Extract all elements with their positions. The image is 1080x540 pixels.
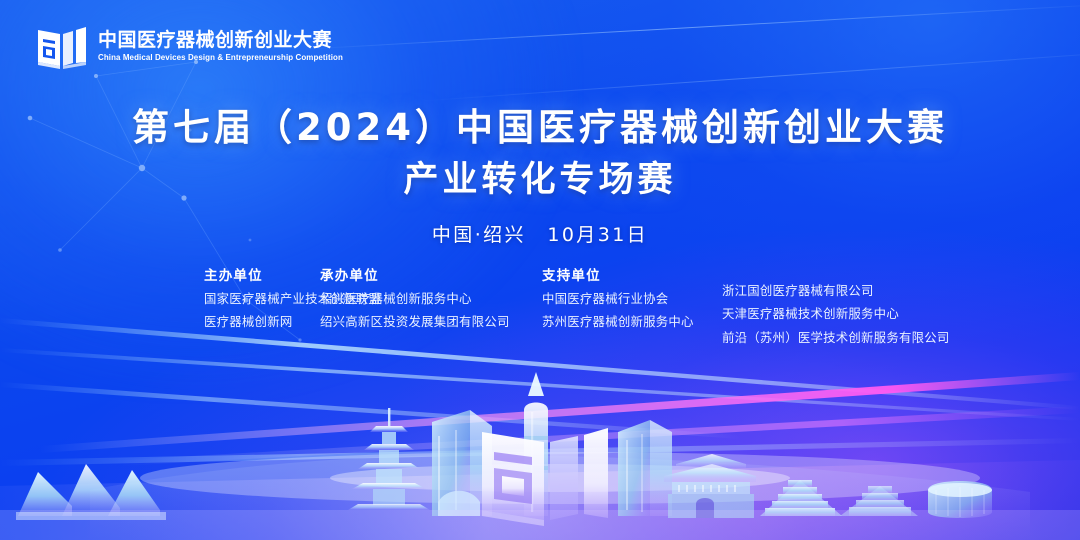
organizer-heading: 主办单位 bbox=[204, 264, 320, 284]
organizer-column-support: 支持单位 中国医疗器械行业协会 苏州医疗器械创新服务中心 bbox=[542, 264, 722, 340]
organizer-heading: 承办单位 bbox=[320, 264, 542, 284]
organizer-item: 绍兴医疗器械创新服务中心 bbox=[320, 293, 542, 305]
page-title: 第七届（2024）中国医疗器械创新创业大赛 bbox=[0, 104, 1080, 153]
organizer-item: 国家医疗器械产业技术创新联盟 bbox=[204, 293, 320, 305]
organizer-column-support-extra: 浙江国创医疗器械有限公司 天津医疗器械技术创新服务中心 前沿（苏州）医学技术创新… bbox=[722, 264, 992, 355]
organizer-item: 苏州医疗器械创新服务中心 bbox=[542, 316, 722, 328]
organizer-item: 绍兴高新区投资发展集团有限公司 bbox=[320, 316, 542, 328]
landmark-tower-right bbox=[618, 420, 672, 516]
open-book-window-icon bbox=[36, 22, 88, 72]
organizer-item: 前沿（苏州）医学技术创新服务有限公司 bbox=[722, 332, 992, 344]
city-skyline-illustration bbox=[0, 340, 1080, 540]
organizer-item: 天津医疗器械技术创新服务中心 bbox=[722, 308, 992, 320]
logo-title-en: China Medical Devices Design & Entrepren… bbox=[98, 54, 343, 62]
page-subtitle: 产业转化专场赛 bbox=[0, 157, 1080, 203]
organizer-item: 中国医疗器械行业协会 bbox=[542, 293, 722, 305]
organizer-column-organizer: 承办单位 绍兴医疗器械创新服务中心 绍兴高新区投资发展集团有限公司 bbox=[320, 264, 542, 340]
organizer-item: 医疗器械创新网 bbox=[204, 316, 320, 328]
organizers-section: 主办单位 国家医疗器械产业技术创新联盟 医疗器械创新网 承办单位 绍兴医疗器械创… bbox=[0, 264, 1080, 355]
organizer-column-host: 主办单位 国家医疗器械产业技术创新联盟 医疗器械创新网 bbox=[88, 264, 320, 340]
organizer-item: 浙江国创医疗器械有限公司 bbox=[722, 285, 992, 297]
event-place-date: 中国·绍兴 10月31日 bbox=[0, 220, 1080, 247]
event-poster: 中国医疗器械创新创业大赛 China Medical Devices Desig… bbox=[0, 0, 1080, 540]
logo-title-cn: 中国医疗器械创新创业大赛 bbox=[98, 31, 350, 50]
hero-titles: 第七届（2024）中国医疗器械创新创业大赛 产业转化专场赛 中国·绍兴 10月3… bbox=[0, 104, 1080, 247]
organizer-heading: 支持单位 bbox=[542, 264, 722, 284]
brand-logo: 中国医疗器械创新创业大赛 China Medical Devices Desig… bbox=[36, 22, 350, 72]
landmark-temple-gate bbox=[664, 454, 756, 518]
